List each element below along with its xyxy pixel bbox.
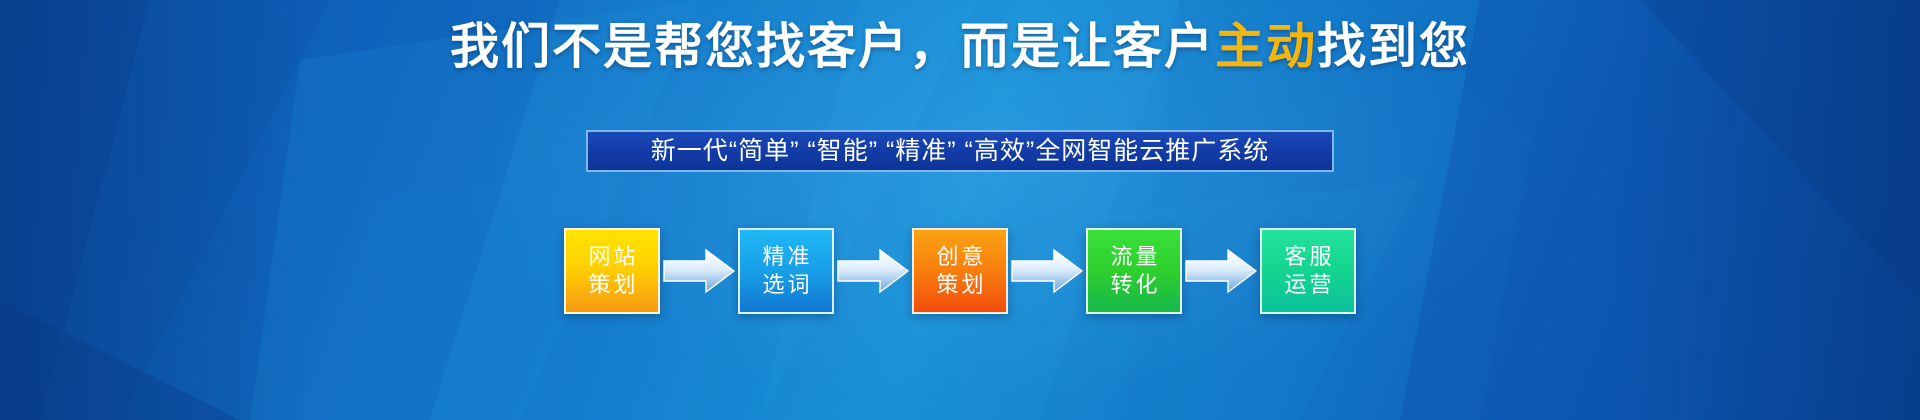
flow-step-line1: 精准 (759, 243, 812, 271)
flow-step-line2: 策划 (585, 271, 638, 299)
flow-arrow-2 (834, 228, 912, 314)
subtitle-band: 新一代“简单” “智能” “精准” “高效”全网智能云推广系统 (586, 130, 1334, 172)
flow-step-line1: 创意 (933, 243, 986, 271)
flow-arrow-3 (1008, 228, 1086, 314)
flow-step-creative-planning[interactable]: 创意 策划 (912, 228, 1008, 314)
process-flow: 网站 策划 精准 选词 (564, 228, 1356, 314)
chevron-right-arrow-icon (1184, 248, 1258, 294)
headline-container: 我们不是帮您找客户，而是让客户主动找到您 (0, 18, 1920, 78)
flow-arrow-1 (660, 228, 738, 314)
flow-step-line1: 客服 (1281, 243, 1334, 271)
page-title: 我们不是帮您找客户，而是让客户主动找到您 (450, 18, 1470, 78)
headline-text-before: 我们不是帮您找客户，而是让客户 (450, 20, 1215, 74)
flow-step-line2: 策划 (933, 271, 986, 299)
chevron-right-arrow-icon (1010, 248, 1084, 294)
flow-step-traffic-conversion[interactable]: 流量 转化 (1086, 228, 1182, 314)
flow-step-line1: 流量 (1107, 243, 1160, 271)
flow-step-customer-service[interactable]: 客服 运营 (1260, 228, 1356, 314)
promo-banner: 我们不是帮您找客户，而是让客户主动找到您 新一代“简单” “智能” “精准” “… (0, 0, 1920, 420)
chevron-right-arrow-icon (836, 248, 910, 294)
flow-step-line2: 转化 (1107, 271, 1160, 299)
headline-text-after: 找到您 (1317, 20, 1470, 74)
flow-step-line1: 网站 (585, 243, 638, 271)
flow-step-line2: 选词 (759, 271, 812, 299)
flow-step-website-planning[interactable]: 网站 策划 (564, 228, 660, 314)
flow-step-line2: 运营 (1281, 271, 1334, 299)
flow-step-keyword-selection[interactable]: 精准 选词 (738, 228, 834, 314)
flow-arrow-4 (1182, 228, 1260, 314)
chevron-right-arrow-icon (662, 248, 736, 294)
headline-highlight: 主动 (1215, 20, 1317, 74)
subtitle-text: 新一代“简单” “智能” “精准” “高效”全网智能云推广系统 (651, 139, 1269, 164)
